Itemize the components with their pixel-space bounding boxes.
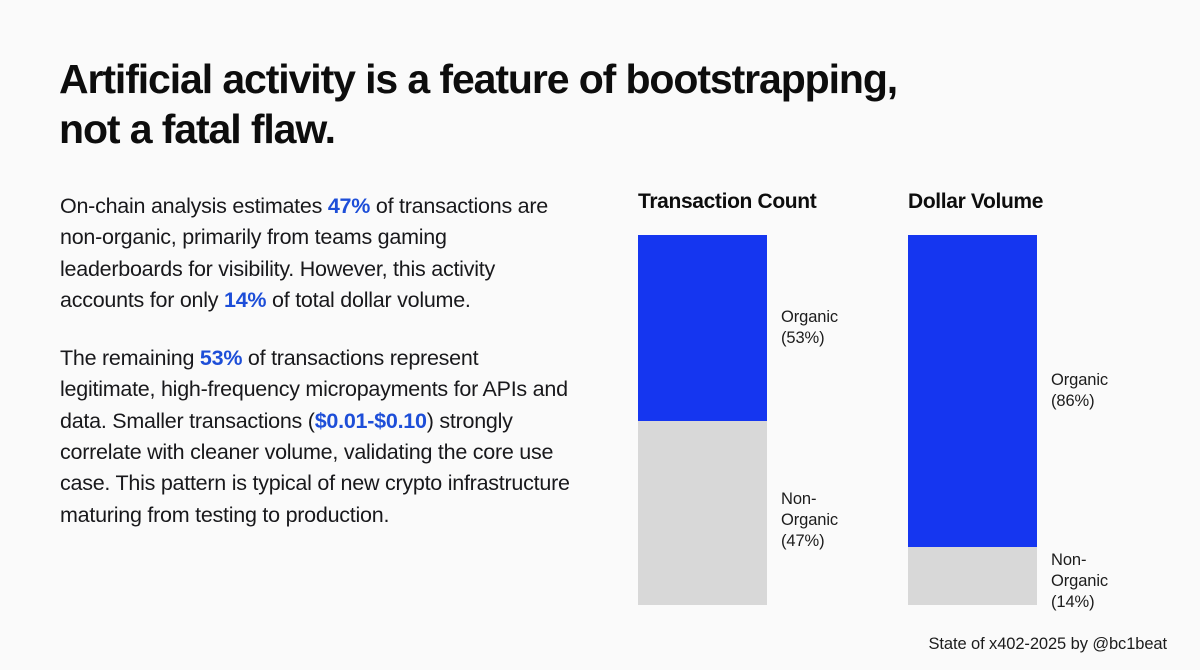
stacked-bar-chart: Transaction Count Organic (53%) Non-Orga…: [600, 180, 1200, 620]
paragraph-one-text-1: On-chain analysis estimates: [60, 194, 328, 218]
page-title: Artificial activity is a feature of boot…: [59, 55, 1069, 154]
paragraph-one-text-3: of total dollar volume.: [266, 288, 470, 312]
paragraph-two-text-1: The remaining: [60, 346, 200, 370]
paragraph-two: The remaining 53% of transactions repres…: [60, 343, 572, 531]
footer-credit: State of x402-2025 by @bc1beat: [929, 635, 1168, 654]
bar-segment-nonorganic-transaction-count: [638, 421, 767, 605]
bar-segment-organic-transaction-count: [638, 235, 767, 421]
chart-title-transaction-count: Transaction Count: [638, 190, 816, 214]
bar-transaction-count: [638, 235, 767, 605]
headline-line-1: Artificial activity is a feature of boot…: [59, 55, 1069, 105]
paragraph-one-accent-2: 14%: [224, 288, 266, 312]
narrative-column: On-chain analysis estimates 47% of trans…: [60, 191, 572, 531]
bar-label-nonorganic-dollar-volume: Non-Organic (14%): [1051, 550, 1108, 612]
bar-label-organic-transaction-count: Organic (53%): [781, 307, 838, 349]
bar-label-nonorganic-transaction-count: Non-Organic (47%): [781, 489, 838, 551]
bar-segment-organic-dollar-volume: [908, 235, 1037, 547]
chart-title-dollar-volume: Dollar Volume: [908, 190, 1043, 214]
paragraph-two-accent-2: $0.01-$0.10: [315, 409, 427, 433]
bar-segment-nonorganic-dollar-volume: [908, 547, 1037, 605]
paragraph-two-accent-1: 53%: [200, 346, 242, 370]
paragraph-one-accent-1: 47%: [328, 194, 370, 218]
bar-dollar-volume: [908, 235, 1037, 605]
bar-label-organic-dollar-volume: Organic (86%): [1051, 370, 1108, 412]
headline-line-2: not a fatal flaw.: [59, 105, 1069, 155]
slide-canvas: Artificial activity is a feature of boot…: [0, 0, 1200, 670]
paragraph-one: On-chain analysis estimates 47% of trans…: [60, 191, 572, 316]
